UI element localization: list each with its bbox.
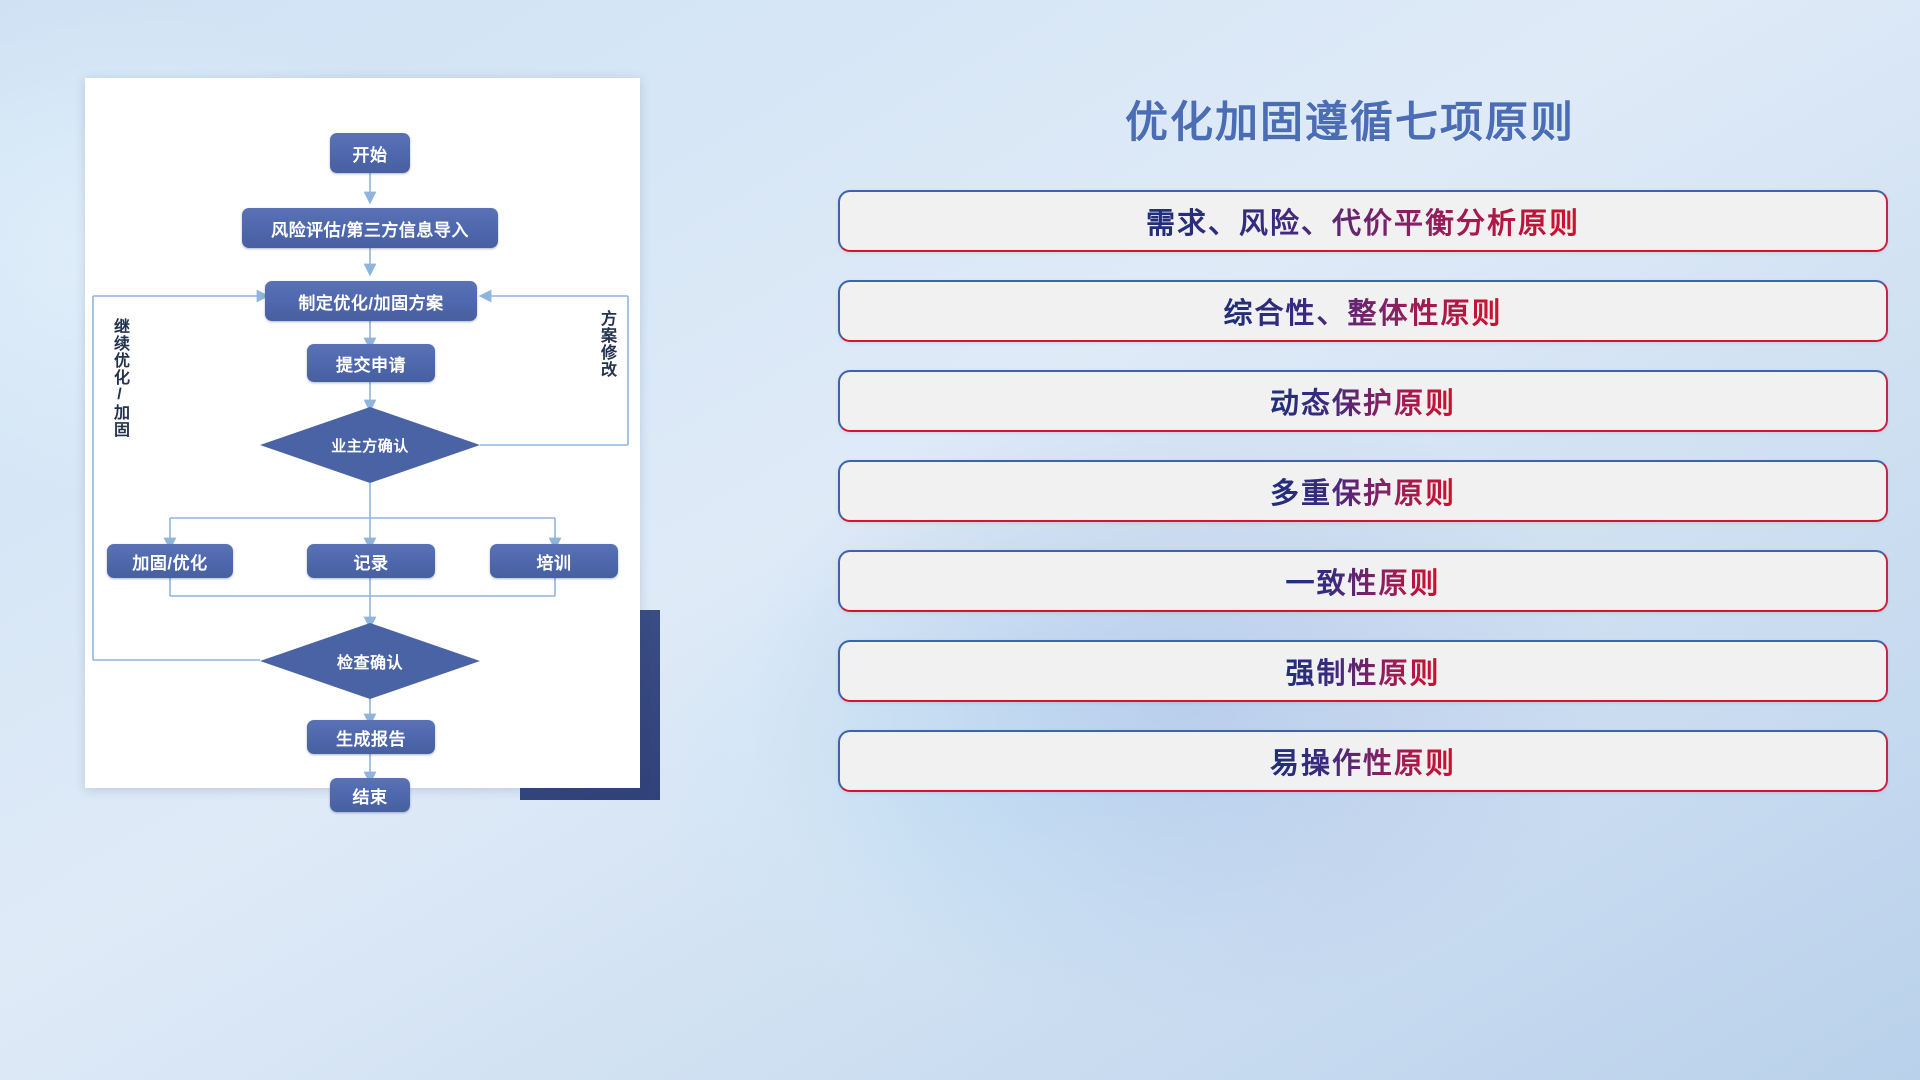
principle-card-4-label: 多重保护原则: [1270, 470, 1456, 512]
flow-node-owner-confirm[interactable]: 业主方确认: [260, 407, 480, 483]
flow-node-end-label: 结束: [353, 783, 388, 808]
principle-card-3-label: 动态保护原则: [1270, 380, 1456, 422]
principle-card-2-label: 综合性、整体性原则: [1223, 290, 1502, 332]
flow-node-risk-assessment-label: 风险评估/第三方信息导入: [271, 216, 469, 241]
principle-card-5[interactable]: 一致性原则: [838, 550, 1888, 612]
principle-card-6-label: 强制性原则: [1285, 650, 1440, 692]
flow-node-start-label: 开始: [353, 141, 388, 166]
principle-card-5-label: 一致性原则: [1285, 560, 1440, 602]
flow-node-check-confirm[interactable]: 检查确认: [260, 623, 480, 699]
flow-node-training[interactable]: 培训: [490, 544, 618, 578]
page-title: 优化加固遵循七项原则: [950, 88, 1750, 150]
principle-card-4[interactable]: 多重保护原则: [838, 460, 1888, 522]
principle-card-3[interactable]: 动态保护原则: [838, 370, 1888, 432]
principle-card-6[interactable]: 强制性原则: [838, 640, 1888, 702]
flow-node-record[interactable]: 记录: [307, 544, 435, 578]
flow-label-plan-revision: 方案修改: [597, 310, 614, 415]
principle-card-1-label: 需求、风险、代价平衡分析原则: [1146, 200, 1580, 242]
flow-node-report[interactable]: 生成报告: [307, 720, 435, 754]
flow-node-submit-label: 提交申请: [336, 351, 406, 376]
principles-panel: 优化加固遵循七项原则 需求、风险、代价平衡分析原则 综合性、整体性原则 动态保护…: [790, 0, 1920, 1080]
flow-node-record-label: 记录: [354, 549, 389, 574]
principle-card-1[interactable]: 需求、风险、代价平衡分析原则: [838, 190, 1888, 252]
flow-node-plan-label: 制定优化/加固方案: [298, 289, 443, 314]
flow-node-end[interactable]: 结束: [330, 778, 410, 812]
flowchart-card: 开始 风险评估/第三方信息导入 制定优化/加固方案 提交申请 业主方确认 加固/…: [85, 78, 640, 788]
flow-node-training-label: 培训: [537, 549, 572, 574]
flowchart-canvas: 开始 风险评估/第三方信息导入 制定优化/加固方案 提交申请 业主方确认 加固/…: [85, 78, 640, 788]
flow-node-check-confirm-label: 检查确认: [337, 649, 403, 673]
principle-card-7-label: 易操作性原则: [1270, 740, 1456, 782]
flow-node-submit[interactable]: 提交申请: [307, 344, 435, 382]
flow-node-risk-assessment[interactable]: 风险评估/第三方信息导入: [242, 208, 498, 248]
flow-node-owner-confirm-label: 业主方确认: [331, 435, 409, 456]
flow-label-continue-optimize: 继续优化/加固: [110, 318, 127, 448]
principle-card-2[interactable]: 综合性、整体性原则: [838, 280, 1888, 342]
principle-card-7[interactable]: 易操作性原则: [838, 730, 1888, 792]
flow-node-report-label: 生成报告: [336, 725, 406, 750]
principles-list: 需求、风险、代价平衡分析原则 综合性、整体性原则 动态保护原则 多重保护原则 一…: [838, 190, 1888, 820]
flow-node-plan[interactable]: 制定优化/加固方案: [265, 281, 477, 321]
flow-node-reinforce-label: 加固/优化: [132, 549, 207, 574]
flow-node-start[interactable]: 开始: [330, 133, 410, 173]
flow-node-reinforce[interactable]: 加固/优化: [107, 544, 233, 578]
